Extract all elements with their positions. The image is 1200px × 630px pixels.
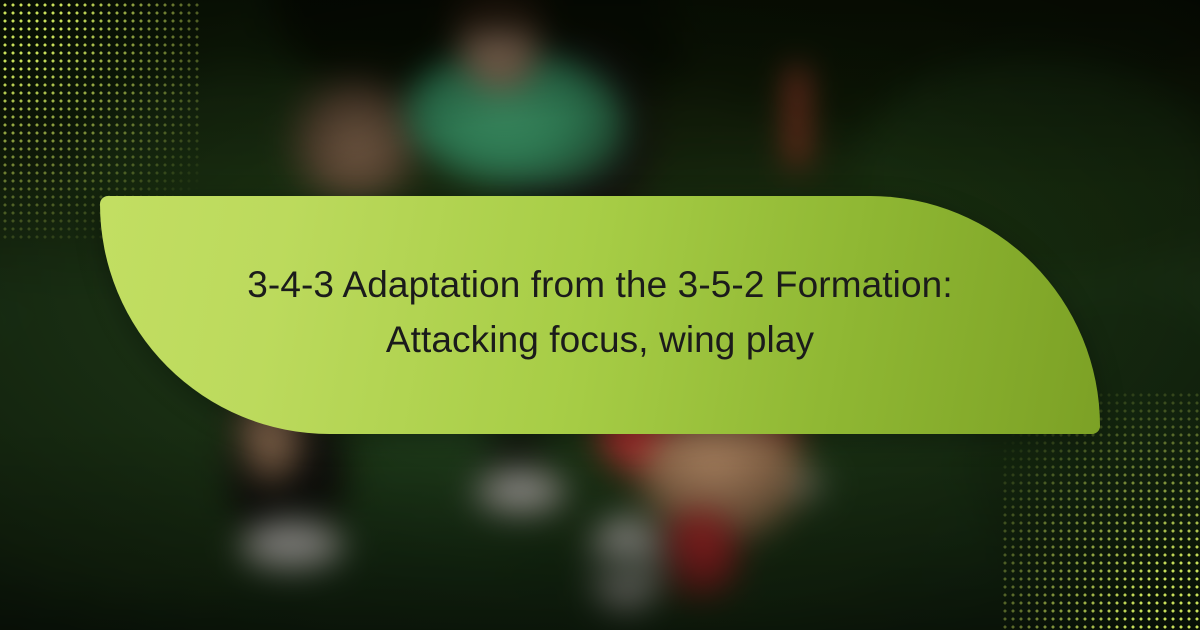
- player-hair: [449, 0, 544, 30]
- background-player-blur: [293, 77, 420, 204]
- player-shoe-white: [240, 520, 346, 573]
- social-card: 3-4-3 Adaptation from the 3-5-2 Formatio…: [0, 0, 1200, 630]
- red-flag-post: [789, 66, 806, 167]
- page-title-line-1: 3-4-3 Adaptation from the 3-5-2 Formatio…: [247, 264, 953, 305]
- player-sock-red: [664, 511, 738, 596]
- page-title: 3-4-3 Adaptation from the 3-5-2 Formatio…: [170, 258, 1030, 372]
- pitch-line: [367, 559, 717, 576]
- title-banner: 3-4-3 Adaptation from the 3-5-2 Formatio…: [100, 196, 1100, 434]
- player-shoe-white: [473, 469, 568, 517]
- page-title-line-2: Attacking focus, wing play: [386, 319, 814, 360]
